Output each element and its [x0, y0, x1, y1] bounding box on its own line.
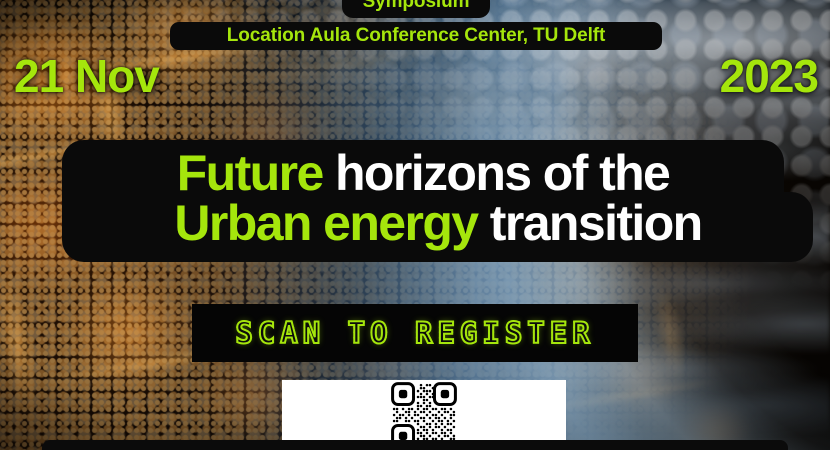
event-poster: Symposium Location Aula Conference Cente…	[0, 0, 830, 450]
event-title-rest-2: transition	[478, 195, 702, 251]
scan-to-register-label: SCAN TO REGISTER	[235, 316, 594, 350]
title-plate: Future horizons of the Urban energy tran…	[62, 140, 814, 262]
event-date-year: 2023	[720, 49, 818, 103]
event-title-line-2: Urban energy transition	[62, 198, 814, 248]
footer-bar	[42, 440, 788, 450]
poster-content: Symposium Location Aula Conference Cente…	[0, 0, 830, 450]
event-date-day: 21 Nov	[14, 49, 159, 103]
event-title-line-1: Future horizons of the	[62, 148, 814, 198]
event-location-badge: Location Aula Conference Center, TU Delf…	[170, 22, 662, 50]
event-title-highlight-1: Future	[177, 145, 323, 201]
event-type-badge: Symposium	[342, 0, 490, 18]
event-title-highlight-2: Urban energy	[174, 195, 477, 251]
scan-to-register-bar: SCAN TO REGISTER	[192, 304, 638, 362]
event-title-rest-1: horizons of the	[323, 145, 670, 201]
